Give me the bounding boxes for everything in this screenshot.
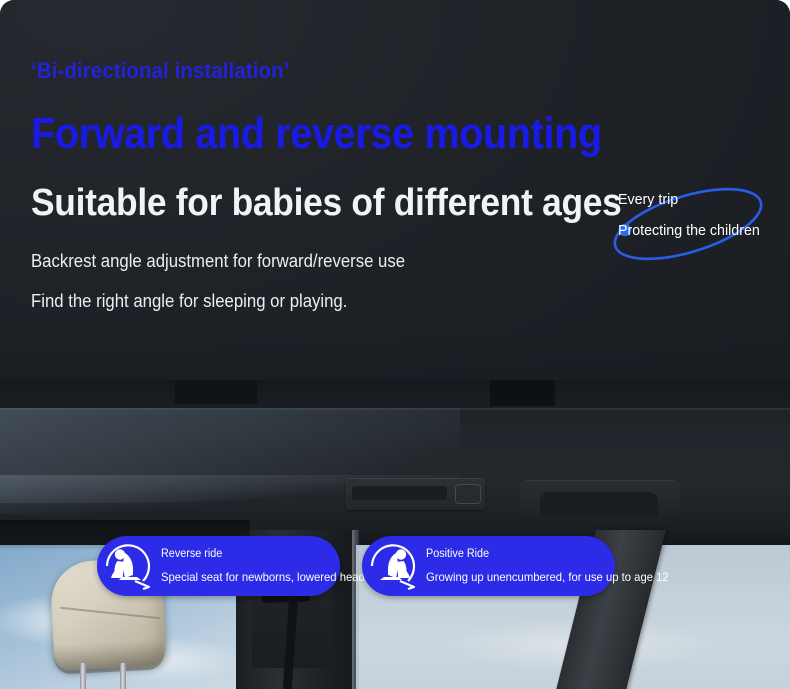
- pill-title: Reverse ride: [161, 549, 365, 561]
- ceiling-top-strip: [0, 380, 790, 410]
- headrest-shadow: [53, 639, 164, 675]
- feature-bullet-1: Backrest angle adjustment for forward/re…: [31, 252, 608, 270]
- headrest-post: [120, 663, 126, 689]
- pill-text-reverse: Reverse ride Special seat for newborns, …: [157, 549, 378, 584]
- product-banner: ‘Bi-directional installation’ Forward an…: [0, 0, 790, 689]
- car-interior-photo: [0, 380, 790, 689]
- marketing-copy-block: ‘Bi-directional installation’ Forward an…: [31, 60, 651, 310]
- pill-badge-positive-ride[interactable]: Positive Ride Growing up unencumbered, f…: [362, 536, 615, 596]
- ceiling-panel-gap: [490, 380, 555, 406]
- dome-light-button: [455, 484, 481, 504]
- headline-text: Forward and reverse mounting: [31, 112, 589, 156]
- pill-title: Positive Ride: [426, 549, 669, 561]
- pill-badge-reverse-ride[interactable]: Reverse ride Special seat for newborns, …: [97, 536, 340, 596]
- child-seat-reverse-icon: [99, 537, 157, 595]
- headrest-post: [80, 663, 86, 689]
- pill-description: Special seat for newborns, lowered head: [161, 571, 365, 583]
- pill-text-forward: Positive Ride Growing up unencumbered, f…: [422, 549, 684, 584]
- pill-description: Growing up unencumbered, for use up to a…: [426, 571, 669, 583]
- kicker-text: ‘Bi-directional installation’: [31, 60, 608, 82]
- grab-handle-recess: [540, 492, 658, 516]
- child-seat-forward-icon: [364, 537, 422, 595]
- dome-light-lens: [352, 485, 447, 500]
- orbit-ring-icon: [598, 174, 778, 274]
- feature-bullet-2: Find the right angle for sleeping or pla…: [31, 292, 608, 310]
- subheadline-text: Suitable for babies of different ages: [31, 184, 608, 222]
- ceiling-panel-gap: [175, 380, 257, 404]
- orbit-badge: Every trip Protecting the children: [598, 174, 778, 274]
